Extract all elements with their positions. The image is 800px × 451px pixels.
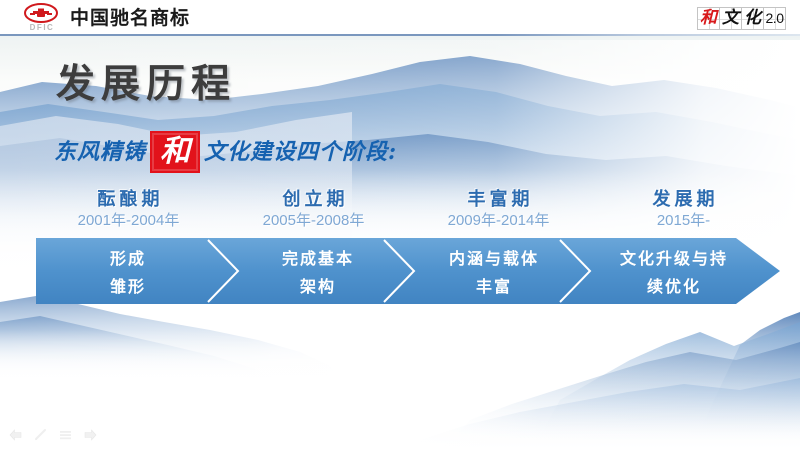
- menu-icon[interactable]: [58, 428, 72, 442]
- chevron-label-2-line1: 完成基本: [282, 249, 354, 268]
- he-seal-stamp: 和: [150, 131, 200, 173]
- stage-name-4: 发展期: [595, 188, 776, 211]
- grid-char-version: 2.0: [763, 7, 786, 30]
- he-culture-logo: 和 文 化 2.0: [698, 7, 786, 30]
- grid-char-hua: 化: [741, 7, 764, 30]
- stage-name-2: 创立期: [225, 188, 406, 211]
- stage-name-1: 酝酿期: [40, 188, 221, 211]
- grid-char-wen: 文: [719, 7, 742, 30]
- header-title: 中国驰名商标: [70, 5, 190, 31]
- chevron-label-4-line1: 文化升级与持: [620, 249, 728, 268]
- grid-char-he: 和: [697, 7, 720, 30]
- dongfeng-emblem-icon: [24, 3, 58, 23]
- stage-headers: 酝酿期 2001年-2004年 创立期 2005年-2008年 丰富期 2009…: [36, 188, 776, 231]
- subtitle-suffix: 文化建设四个阶段:: [204, 137, 397, 167]
- subtitle-line: 东风精铸 和 文化建设四个阶段:: [54, 131, 397, 173]
- grid-char-wen-text: 文: [722, 10, 739, 27]
- grid-char-version-text: 2.0: [766, 10, 784, 27]
- dfic-wordmark: DFIC: [22, 23, 62, 32]
- stage-header-3: 丰富期 2009年-2014年: [406, 188, 591, 231]
- stage-header-4: 发展期 2015年-: [591, 188, 776, 231]
- pen-icon[interactable]: [33, 428, 47, 442]
- previous-arrow-icon[interactable]: [8, 428, 22, 442]
- chevron-label-3-line1: 内涵与载体: [449, 249, 539, 268]
- chevron-label-2-line2: 架构: [299, 277, 336, 296]
- he-seal-text: 和: [150, 131, 200, 173]
- chevron-label-1-line2: 雏形: [110, 277, 146, 296]
- process-chevron-bar: 形成 雏形 完成基本 架构 内涵与载体 丰富 文化升级与持 续优化: [36, 238, 780, 304]
- next-arrow-icon[interactable]: [83, 428, 97, 442]
- chevron-label-4-line2: 续优化: [647, 277, 701, 296]
- dfic-logo: DFIC: [18, 3, 64, 33]
- page-title: 发展历程: [56, 61, 236, 109]
- subtitle-prefix: 东风精铸: [54, 137, 146, 167]
- presentation-controls[interactable]: [8, 428, 97, 442]
- stage-years-1: 2001年-2004年: [36, 211, 221, 231]
- slide-canvas: DFIC 中国驰名商标 和 文 化 2.0 发展历程 东风精铸 和 文化建设四个…: [0, 0, 800, 451]
- stage-years-2: 2005年-2008年: [221, 211, 406, 231]
- stage-header-2: 创立期 2005年-2008年: [221, 188, 406, 231]
- stage-years-4: 2015年-: [591, 211, 776, 231]
- stage-years-3: 2009年-2014年: [406, 211, 591, 231]
- grid-char-he-text: 和: [700, 10, 717, 27]
- stage-header-1: 酝酿期 2001年-2004年: [36, 188, 221, 231]
- top-header-bar: DFIC 中国驰名商标: [0, 0, 800, 36]
- chevron-label-1-line1: 形成: [110, 249, 146, 268]
- grid-char-hua-text: 化: [744, 10, 761, 27]
- chevron-label-3-line2: 丰富: [476, 277, 512, 296]
- stage-name-3: 丰富期: [410, 188, 591, 211]
